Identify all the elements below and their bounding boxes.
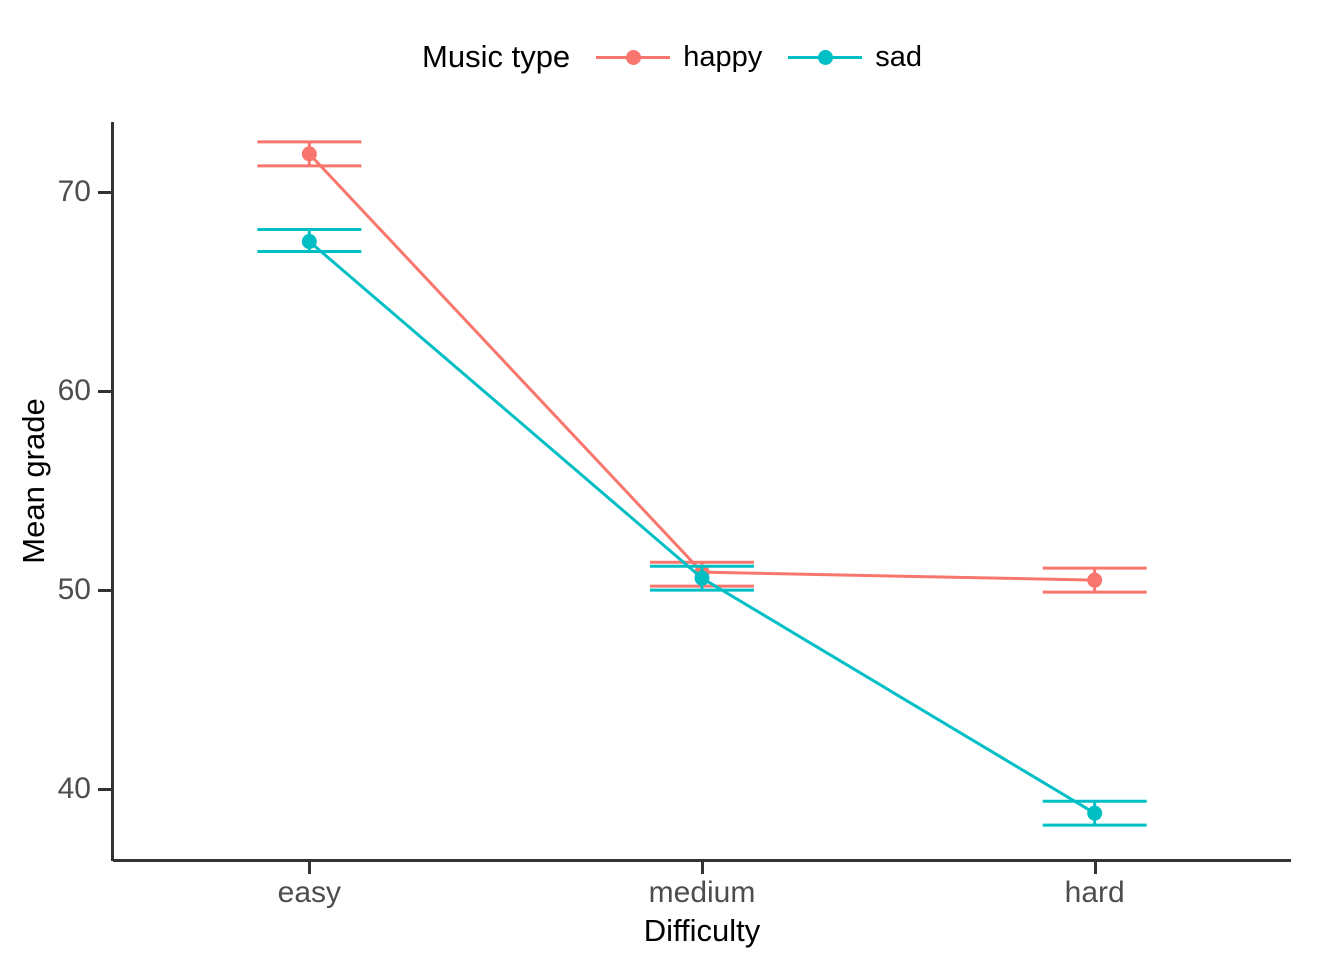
x-tick-label: medium <box>649 876 756 910</box>
data-point <box>695 565 710 580</box>
legend-key-dot <box>818 50 833 65</box>
y-tick-mark <box>98 390 111 393</box>
series-happy <box>257 142 1146 592</box>
y-axis-title: Mean grade <box>16 161 52 801</box>
legend-label-happy: happy <box>683 41 762 74</box>
x-tick-label: hard <box>1065 876 1125 910</box>
y-tick-mark <box>98 589 111 592</box>
chart-legend: Music type happy sad <box>0 26 1344 88</box>
series-sad <box>257 230 1146 826</box>
series-line <box>309 242 1094 814</box>
legend-key-sad-icon <box>788 42 862 72</box>
legend-label-sad: sad <box>875 41 922 74</box>
data-point <box>1087 806 1102 821</box>
data-point <box>302 146 317 161</box>
x-tick-mark <box>701 861 704 874</box>
data-point <box>695 571 710 586</box>
legend-item-happy[interactable]: happy <box>596 41 762 74</box>
y-axis-line <box>111 122 114 861</box>
data-point <box>1087 573 1102 588</box>
x-tick-label: easy <box>278 876 341 910</box>
x-tick-mark <box>1094 861 1097 874</box>
legend-key-happy-icon <box>596 42 670 72</box>
series-line <box>309 154 1094 580</box>
x-axis-title: Difficulty <box>113 913 1291 949</box>
data-point <box>302 234 317 249</box>
legend-key-dot <box>626 50 641 65</box>
legend-title: Music type <box>422 39 570 75</box>
legend-item-sad[interactable]: sad <box>788 41 922 74</box>
plot-data-layer <box>0 0 1344 960</box>
x-tick-mark <box>308 861 311 874</box>
y-tick-mark <box>98 191 111 194</box>
y-tick-mark <box>98 788 111 791</box>
chart-figure: Music type happy sad 40506070 easymedium… <box>0 0 1344 960</box>
